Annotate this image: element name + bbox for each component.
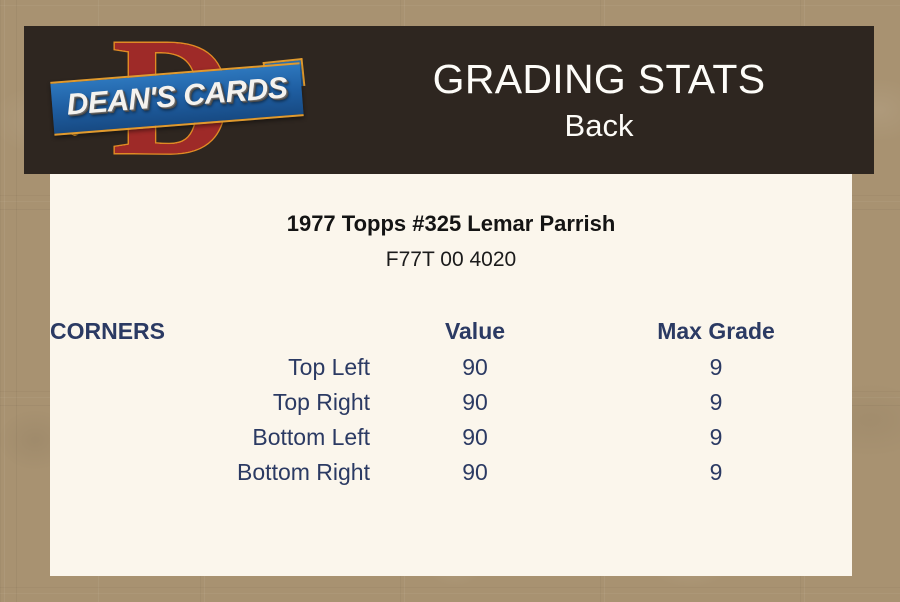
card-title: 1977 Topps #325 Lemar Parrish <box>50 210 852 238</box>
table-row: Top Right 90 9 <box>50 385 852 420</box>
header-title-group: GRADING STATS Back <box>324 26 874 174</box>
page-title: GRADING STATS <box>433 55 766 104</box>
table-row: Bottom Right 90 9 <box>50 455 852 490</box>
deans-cards-logo[interactable]: D D DEAN'S CARDS <box>52 30 302 170</box>
grading-stats-table: CORNERS Value Max Grade Top Left 90 9 To… <box>50 312 852 490</box>
row-max-grade: 9 <box>580 455 852 490</box>
row-value: 90 <box>370 420 580 455</box>
content-panel: 1977 Topps #325 Lemar Parrish F77T 00 40… <box>50 174 852 576</box>
table-header-row: CORNERS Value Max Grade <box>50 312 852 350</box>
column-header-value: Value <box>370 312 580 350</box>
row-label: Bottom Left <box>50 420 370 455</box>
row-max-grade: 9 <box>580 385 852 420</box>
row-max-grade: 9 <box>580 350 852 385</box>
page-subtitle: Back <box>565 107 634 145</box>
column-header-max-grade: Max Grade <box>580 312 852 350</box>
row-label: Top Left <box>50 350 370 385</box>
row-label: Bottom Right <box>50 455 370 490</box>
row-value: 90 <box>370 455 580 490</box>
row-max-grade: 9 <box>580 420 852 455</box>
row-value: 90 <box>370 385 580 420</box>
column-header-corners: CORNERS <box>50 312 370 350</box>
card-code: F77T 00 4020 <box>50 246 852 273</box>
table-row: Top Left 90 9 <box>50 350 852 385</box>
row-label: Top Right <box>50 385 370 420</box>
header-bar: D D DEAN'S CARDS GRADING STATS Back <box>24 26 874 174</box>
table-row: Bottom Left 90 9 <box>50 420 852 455</box>
row-value: 90 <box>370 350 580 385</box>
